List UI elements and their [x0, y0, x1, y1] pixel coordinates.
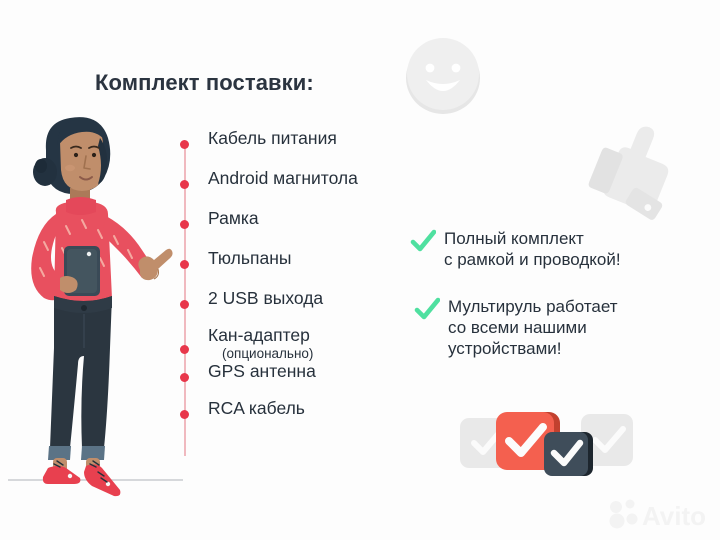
check-mark-icon	[414, 297, 440, 323]
bullet-dot-icon	[180, 140, 189, 149]
benefit-item: Полный комплект с рамкой и проводкой!	[410, 228, 621, 270]
list-item-label: Рамка	[208, 208, 430, 228]
bullet-dot-icon	[180, 260, 189, 269]
list-item: Рамка	[180, 208, 430, 248]
list-item: Тюльпаны	[180, 248, 430, 288]
bullet-dot-icon	[180, 180, 189, 189]
list-item-label: Тюльпаны	[208, 248, 430, 268]
list-item: Кан-адаптер (опционально)	[180, 325, 430, 361]
bullet-dot-icon	[180, 300, 189, 309]
list-item-sublabel: (опционально)	[222, 346, 430, 361]
smiley-face-icon	[398, 30, 488, 120]
thumbs-up-icon	[575, 110, 695, 230]
list-item: Кабель питания	[180, 128, 430, 168]
bullet-dot-icon	[180, 345, 189, 354]
package-contents-list: Кабель питания Android магнитола Рамка Т…	[180, 128, 430, 435]
bullet-dot-icon	[180, 373, 189, 382]
avito-watermark: Avito	[606, 494, 714, 534]
list-item: RCA кабель	[180, 398, 430, 435]
list-item-label: 2 USB выхода	[208, 288, 430, 308]
list-item: GPS антенна	[180, 361, 430, 398]
checkbox-cards-icon	[458, 400, 633, 490]
check-mark-icon	[410, 229, 436, 255]
list-item-label: Кабель питания	[208, 128, 430, 148]
benefit-text: Полный комплект с рамкой и проводкой!	[444, 228, 621, 270]
promo-banner: Комплект поставки: Кабель питания Androi…	[0, 0, 720, 540]
list-item-label: Android магнитола	[208, 168, 430, 188]
avito-wordmark: Avito	[642, 501, 706, 531]
benefit-text: Мультируль работает со всеми нашими устр…	[448, 296, 618, 359]
bullet-dot-icon	[180, 220, 189, 229]
woman-pointing-illustration	[8, 108, 183, 498]
list-item-label: GPS антенна	[208, 361, 430, 381]
benefit-item: Мультируль работает со всеми нашими устр…	[414, 296, 618, 359]
list-item-label: RCA кабель	[208, 398, 430, 418]
list-item: 2 USB выхода	[180, 288, 430, 325]
list-item: Android магнитола	[180, 168, 430, 208]
bullet-dot-icon	[180, 410, 189, 419]
page-title: Комплект поставки:	[95, 70, 314, 96]
list-item-label: Кан-адаптер	[208, 325, 430, 345]
